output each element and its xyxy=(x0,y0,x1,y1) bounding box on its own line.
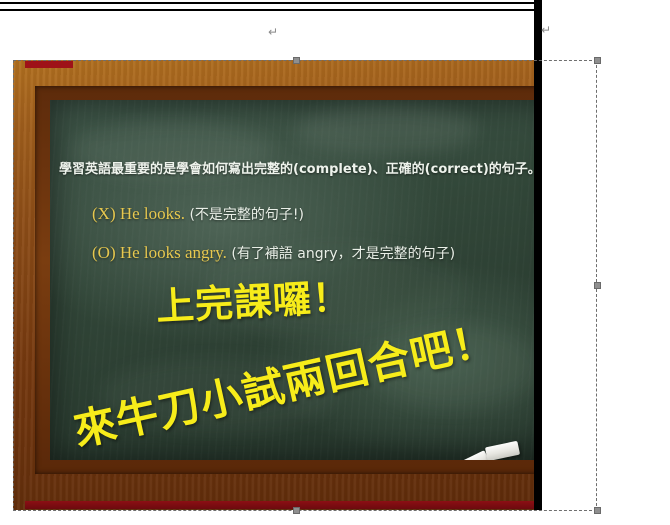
example-correct: (O) He looks angry. (有了補語 angry，才是完整的句子) xyxy=(92,243,455,263)
chalk-headline-secondary: 來牛刀小試兩回合吧！ xyxy=(67,306,500,459)
blackboard-image[interactable]: 學習英語最重要的是學會如何寫出完整的(complete)、正確的(correct… xyxy=(13,60,534,510)
example-incorrect: (X) He looks. (不是完整的句子!) xyxy=(92,204,304,224)
paragraph-mark-icon: ↵ xyxy=(541,24,551,36)
resize-handle-top-right[interactable] xyxy=(594,57,601,64)
red-accent-strip-bottom xyxy=(25,501,534,509)
blackboard-wood-frame: 學習英語最重要的是學會如何寫出完整的(complete)、正確的(correct… xyxy=(13,60,534,510)
resize-handle-middle-right[interactable] xyxy=(594,282,601,289)
page-edge-bar xyxy=(534,0,542,510)
example-correct-note: (有了補語 angry，才是完整的句子) xyxy=(231,246,455,262)
resize-handle-bottom-center[interactable] xyxy=(293,507,300,514)
document-page: ↵ ↵ 學習英語最重要的是學會如何寫出完整的(complete)、正確的(cor… xyxy=(0,0,670,525)
example-correct-english: (O) He looks angry. xyxy=(92,243,227,262)
board-text-layer: 學習英語最重要的是學會如何寫出完整的(complete)、正確的(correct… xyxy=(50,100,534,460)
paragraph-mark-icon: ↵ xyxy=(268,26,278,38)
red-accent-strip-top xyxy=(25,61,73,68)
section-break-rule xyxy=(0,2,534,11)
intro-sentence: 學習英語最重要的是學會如何寫出完整的(complete)、正確的(correct… xyxy=(59,158,519,177)
chalk-headline-primary: 上完課囉！ xyxy=(155,266,353,331)
example-incorrect-note: (不是完整的句子!) xyxy=(189,207,304,223)
example-incorrect-english: (X) He looks. xyxy=(92,204,185,223)
resize-handle-top-center[interactable] xyxy=(293,57,300,64)
chalkboard-surface: 學習英語最重要的是學會如何寫出完整的(complete)、正確的(correct… xyxy=(50,100,534,460)
resize-handle-bottom-right[interactable] xyxy=(594,507,601,514)
